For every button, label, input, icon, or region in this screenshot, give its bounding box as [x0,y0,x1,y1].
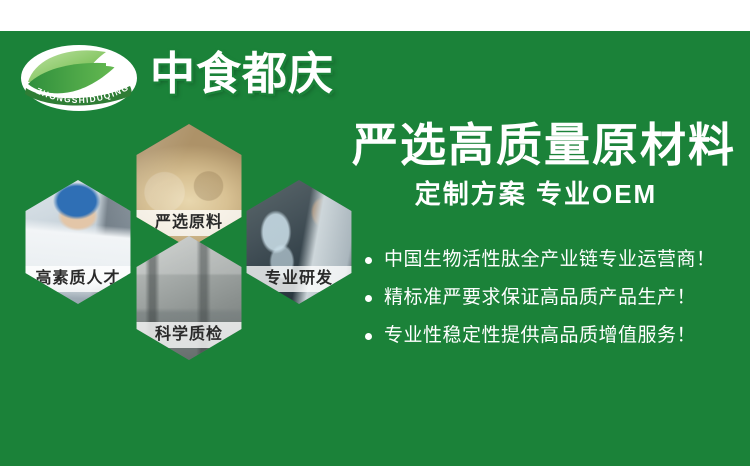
list-item-label: 专业性稳定性提供高品质增值服务！ [384,325,696,346]
leaf-logo-icon: ZHONGSHIDUQING [20,44,138,112]
list-item-label: 中国生物活性肽全产业链专业运营商！ [384,249,716,270]
list-item: 精标准严要求保证高品质产品生产！ [362,284,742,312]
bullet-dot-icon [365,295,372,302]
list-item: 专业性稳定性提供高品质增值服务！ [362,322,742,350]
brand-logo[interactable]: ZHONGSHIDUQING 中食都庆 [20,42,320,114]
promo-bullet-list: 中国生物活性肽全产业链专业运营商！ 精标准严要求保证高品质产品生产！ 专业性稳定… [362,246,742,360]
list-item-label: 精标准严要求保证高品质产品生产！ [384,287,696,308]
promo-subheadline: 定制方案 专业OEM [352,178,720,210]
bullet-dot-icon [365,333,372,340]
brand-name: 中食都庆 [150,48,334,100]
list-item: 中国生物活性肽全产业链专业运营商！ [362,246,742,274]
promo-headline: 严选高质量原材料 [352,118,720,172]
bullet-dot-icon [365,257,372,264]
promo-banner: ZHONGSHIDUQING 中食都庆 严选原料 高素质人才 专业研发 科学质检… [0,0,750,466]
